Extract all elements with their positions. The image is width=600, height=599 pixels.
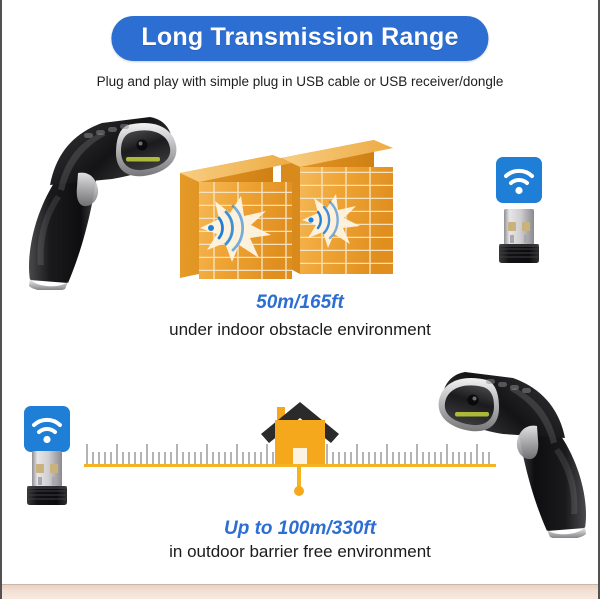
infographic-page: Long Transmission Range Plug and play wi… — [0, 0, 600, 599]
title-banner: Long Transmission Range — [111, 16, 488, 61]
indoor-description: under indoor obstacle environment — [2, 320, 598, 340]
outdoor-description: in outdoor barrier free environment — [2, 542, 598, 562]
house-landmark-icon — [257, 396, 343, 496]
bottom-accent-strip — [2, 584, 598, 599]
barcode-scanner-icon-outdoor — [410, 358, 595, 538]
usb-dongle-icon-indoor — [497, 208, 541, 266]
barcode-scanner-icon-indoor — [20, 105, 185, 290]
page-title: Long Transmission Range — [141, 23, 458, 52]
outdoor-range-label: Up to 100m/330ft — [2, 518, 598, 540]
usb-dongle-icon-outdoor — [25, 450, 69, 508]
indoor-range-label: 50m/165ft — [2, 292, 598, 314]
subtitle-text: Plug and play with simple plug in USB ca… — [2, 74, 598, 89]
wifi-signal-icon-outdoor — [24, 406, 70, 452]
wifi-signal-icon-indoor — [496, 157, 542, 203]
brick-wall-obstacle-icon — [178, 128, 393, 283]
